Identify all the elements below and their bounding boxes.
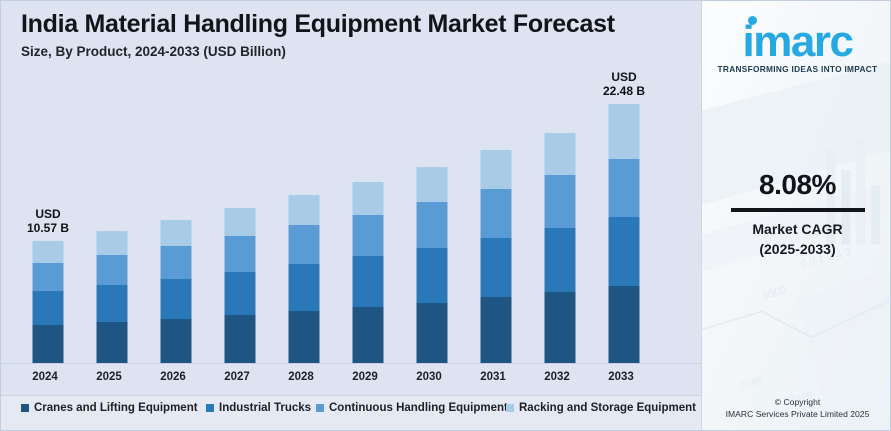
bar-segment [161,246,192,279]
bar-value-label: USD10.57 B [27,207,69,235]
bar-group [205,91,275,363]
x-axis-tick-2026: 2026 [138,365,208,389]
x-axis-tick-2028: 2028 [266,365,336,389]
logo-text: imarc [743,17,853,66]
x-axis-ticks: 2024202520262027202820292030203120322033 [1,365,701,389]
legend-item-2[interactable]: Industrial Trucks [206,396,311,420]
bar-segment [225,236,256,272]
page-subtitle: Size, By Product, 2024-2033 (USD Billion… [21,43,681,60]
bar-segment [289,195,320,225]
chart-infographic: India Material Handling Equipment Market… [0,0,891,431]
cagr-caption: Market CAGR [702,219,891,239]
legend-label: Industrial Trucks [219,402,311,414]
bar-segment [33,325,64,363]
bar-segment [289,264,320,311]
bar-value-label: USD22.48 B [603,70,645,98]
bar-segment [33,263,64,291]
bar-segment [545,175,576,228]
legend-item-1[interactable]: Cranes and Lifting Equipment [21,396,198,420]
stacked-bar [33,241,64,363]
stacked-bar [609,104,640,363]
stacked-bar [97,231,128,363]
cagr-value: 8.08% [702,169,891,201]
title-block: India Material Handling Equipment Market… [21,9,681,60]
bar-segment [481,189,512,238]
bar-segment [97,285,128,322]
plot-area: USD10.57 BUSD22.48 B [1,91,701,363]
bar-segment [481,297,512,363]
stacked-bar [353,182,384,363]
bar-segment [481,150,512,189]
bar-value-unit: USD [603,70,645,84]
x-axis-tick-2030: 2030 [394,365,464,389]
logo-wordmark: imarc [743,19,853,65]
bar-segment [289,311,320,363]
stacked-bar [161,220,192,363]
legend-label: Cranes and Lifting Equipment [34,402,198,414]
copyright-owner: IMARC Services Private Limited 2025 [702,408,891,420]
chart-legend: Cranes and Lifting EquipmentIndustrial T… [1,395,701,431]
cagr-block: 8.08% Market CAGR (2025-2033) [702,169,891,259]
bar-group [397,91,467,363]
bar-segment [225,208,256,236]
x-axis-tick-2024: 2024 [10,365,80,389]
legend-label: Continuous Handling Equipment [329,402,508,414]
bar-segment [161,220,192,246]
bar-segment [97,322,128,363]
stacked-bar [545,133,576,363]
bar-segment [609,217,640,287]
bar-segment [161,279,192,319]
x-axis-tick-2029: 2029 [330,365,400,389]
x-axis-tick-2025: 2025 [74,365,144,389]
legend-item-4[interactable]: Racking and Storage Equipment [506,396,696,420]
legend-item-3[interactable]: Continuous Handling Equipment [316,396,508,420]
legend-label: Racking and Storage Equipment [519,402,696,414]
legend-swatch-icon [316,404,324,412]
bar-group [525,91,595,363]
bar-segment [289,225,320,264]
bar-segment [417,248,448,303]
bar-segment [33,241,64,263]
bar-segment [161,319,192,363]
bar-segment [609,104,640,159]
bar-group: USD10.57 B [13,91,83,363]
bar-segment [481,238,512,298]
bar-segment [353,182,384,215]
cagr-period: (2025-2033) [702,239,891,259]
bar-segment [545,292,576,363]
bar-segment [97,231,128,255]
bar-group [461,91,531,363]
legend-swatch-icon [506,404,514,412]
bar-segment [545,133,576,175]
bar-segment [225,272,256,316]
x-axis-tick-2031: 2031 [458,365,528,389]
logo-dot-icon [748,16,757,25]
x-axis-tick-2027: 2027 [202,365,272,389]
bar-segment [353,307,384,363]
stacked-bar [289,195,320,363]
bar-segment [417,303,448,363]
copyright-block: © Copyright IMARC Services Private Limit… [702,396,891,420]
bar-segment [609,159,640,217]
copyright-line: © Copyright [702,396,891,408]
x-axis-line [1,363,701,364]
x-axis-tick-2033: 2033 [586,365,656,389]
legend-swatch-icon [21,404,29,412]
bar-segment [353,215,384,257]
page-title: India Material Handling Equipment Market… [21,9,681,39]
bar-value-amount: 10.57 B [27,221,69,235]
bar-segment [97,255,128,285]
bar-segment [225,315,256,363]
chart-panel: India Material Handling Equipment Market… [1,1,701,431]
bar-group: USD22.48 B [589,91,659,363]
stacked-bar [417,167,448,363]
bar-group [77,91,147,363]
imarc-logo: imarc TRANSFORMING IDEAS INTO IMPACT [702,19,891,74]
stacked-bar [225,208,256,363]
legend-swatch-icon [206,404,214,412]
bar-segment [417,202,448,247]
bar-value-amount: 22.48 B [603,84,645,98]
bar-segment [33,291,64,325]
bar-group [269,91,339,363]
divider [731,208,865,212]
brand-panel: 0,0 1 2 4 3 5000 0185 2768 imarc TRANSFO… [701,1,891,431]
stacked-bar [481,150,512,363]
x-axis-tick-2032: 2032 [522,365,592,389]
bar-segment [545,228,576,293]
bar-group [141,91,211,363]
bar-value-unit: USD [27,207,69,221]
bar-segment [353,256,384,307]
bar-group [333,91,403,363]
bar-segment [417,167,448,202]
bar-segment [609,286,640,363]
